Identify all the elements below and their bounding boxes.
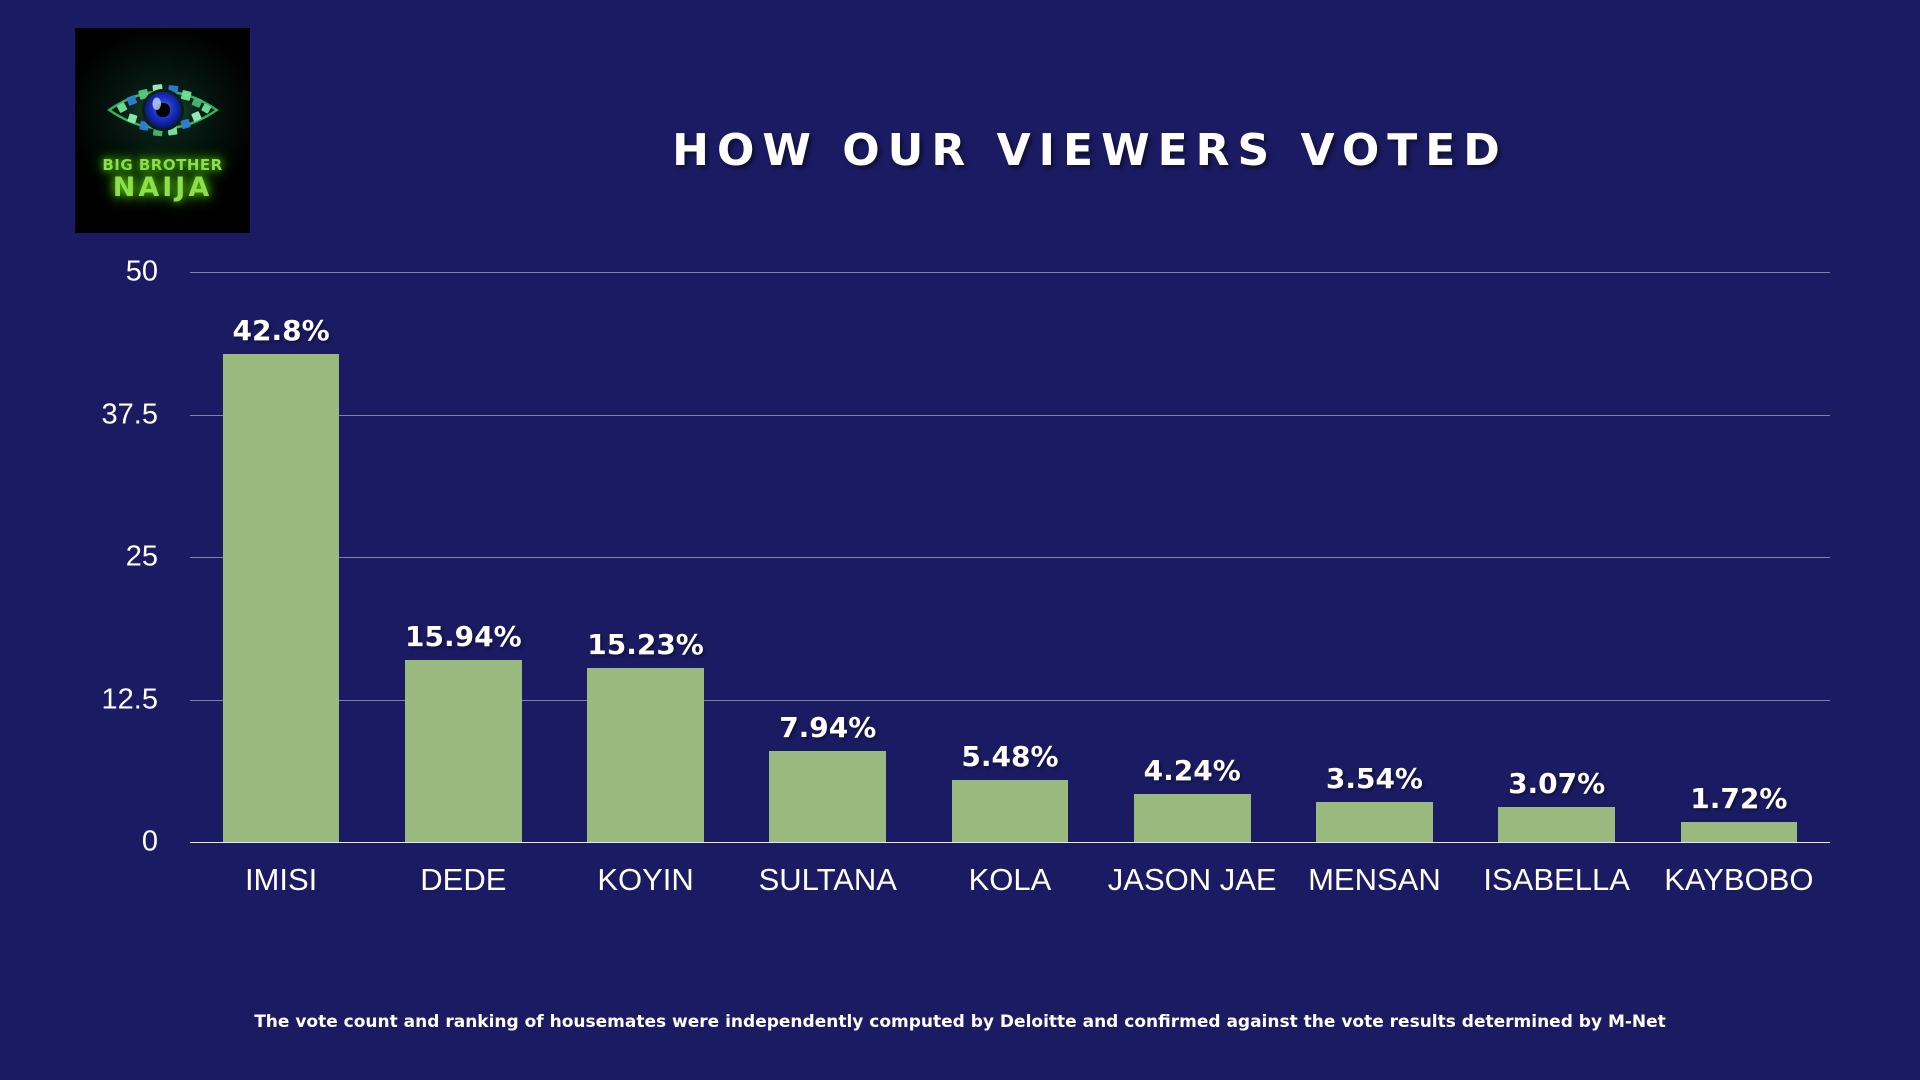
bar-rect[interactable] [769, 751, 886, 842]
x-axis-category-label: SULTANA [759, 862, 897, 898]
chart-plot-area: 012.52537.550 42.8%IMISI15.94%DEDE15.23%… [190, 272, 1830, 842]
x-axis-category-label: KOYIN [597, 862, 693, 898]
bar-value-label: 4.24% [1144, 754, 1241, 787]
bar-value-label: 3.54% [1326, 762, 1423, 795]
bar-rect[interactable] [223, 354, 340, 842]
bar-value-label: 3.07% [1508, 767, 1605, 800]
y-axis-tick-label: 12.5 [102, 683, 158, 716]
x-axis-category-label: ISABELLA [1483, 862, 1629, 898]
bar-value-label: 5.48% [961, 740, 1058, 773]
footer-disclaimer: The vote count and ranking of housemates… [0, 1012, 1920, 1032]
bar-rect[interactable] [1498, 807, 1615, 842]
x-axis-category-label: KOLA [969, 862, 1052, 898]
bar-series: 42.8%IMISI15.94%DEDE15.23%KOYIN7.94%SULT… [190, 272, 1830, 842]
bar-value-label: 42.8% [233, 314, 330, 347]
y-axis-tick-label: 50 [126, 256, 158, 289]
bar-rect[interactable] [1316, 802, 1433, 842]
bar-value-label: 15.94% [405, 620, 522, 653]
gridline [190, 842, 1830, 843]
bar-group[interactable]: 5.48%KOLA [919, 272, 1101, 842]
y-axis-tick-label: 0 [142, 826, 158, 859]
x-axis-category-label: IMISI [245, 862, 317, 898]
y-axis-tick-label: 37.5 [102, 398, 158, 431]
bar-group[interactable]: 3.54%MENSAN [1283, 272, 1465, 842]
bar-rect[interactable] [1134, 794, 1251, 842]
bar-rect[interactable] [1681, 822, 1798, 842]
bar-rect[interactable] [587, 668, 704, 842]
bar-value-label: 1.72% [1690, 782, 1787, 815]
bar-value-label: 7.94% [779, 711, 876, 744]
page-title: HOW OUR VIEWERS VOTED [0, 125, 1920, 176]
x-axis-category-label: JASON JAE [1108, 862, 1277, 898]
bar-group[interactable]: 15.94%DEDE [372, 272, 554, 842]
x-axis-category-label: MENSAN [1308, 862, 1441, 898]
bar-group[interactable]: 42.8%IMISI [190, 272, 372, 842]
bar-group[interactable]: 4.24%JASON JAE [1101, 272, 1283, 842]
x-axis-category-label: KAYBOBO [1664, 862, 1813, 898]
bar-group[interactable]: 1.72%KAYBOBO [1648, 272, 1830, 842]
bar-value-label: 15.23% [587, 628, 704, 661]
bar-rect[interactable] [952, 780, 1069, 842]
logo-line-naija: NAIJA [113, 174, 212, 202]
bar-group[interactable]: 7.94%SULTANA [737, 272, 919, 842]
x-axis-category-label: DEDE [420, 862, 506, 898]
bar-group[interactable]: 15.23%KOYIN [554, 272, 736, 842]
bar-group[interactable]: 3.07%ISABELLA [1466, 272, 1648, 842]
y-axis-tick-label: 25 [126, 541, 158, 574]
bar-rect[interactable] [405, 660, 522, 842]
